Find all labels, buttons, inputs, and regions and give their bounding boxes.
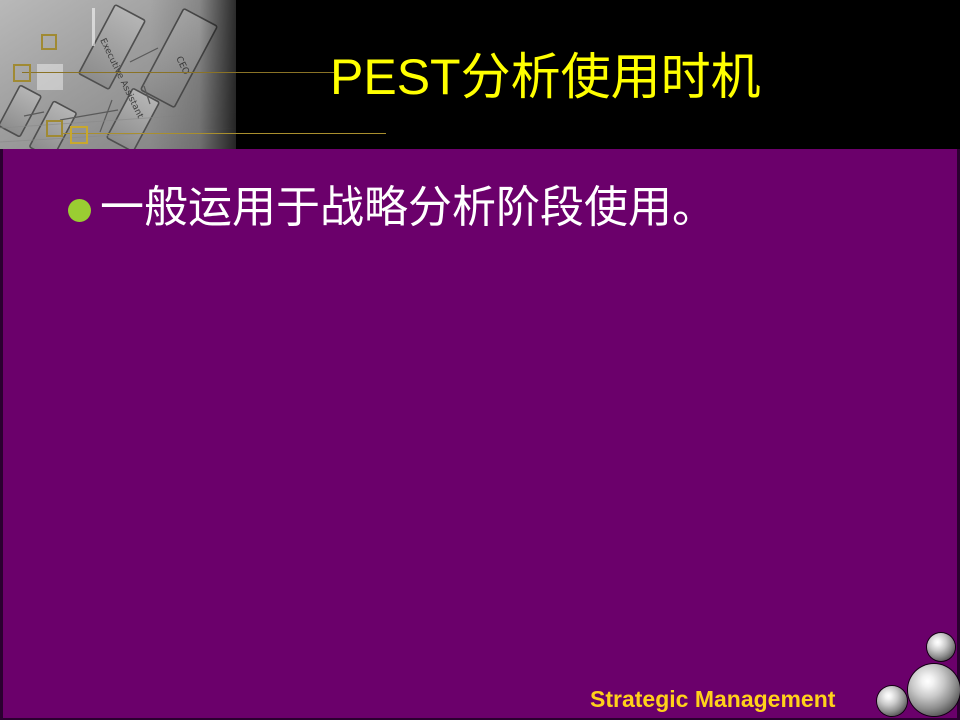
slide-title: PEST分析使用时机 bbox=[330, 48, 930, 106]
decor-pale-square bbox=[37, 64, 63, 90]
bullet-list-item: 一般运用于战略分析阶段使用。 bbox=[68, 182, 716, 234]
decor-sphere-small-top bbox=[927, 633, 955, 661]
slide-content-area bbox=[0, 149, 960, 720]
presentation-slide: Executive Assistant CEO PEST分析使用时机 bbox=[0, 0, 960, 720]
org-chart-photo-graphic: Executive Assistant CEO bbox=[0, 0, 236, 149]
decor-gold-square-4 bbox=[70, 126, 88, 144]
decor-vertical-tick bbox=[92, 8, 95, 46]
decor-gold-square-1 bbox=[41, 34, 57, 50]
decor-sphere-small-left bbox=[877, 686, 907, 716]
decor-sphere-large bbox=[908, 664, 960, 716]
org-chart-photo: Executive Assistant CEO bbox=[0, 0, 236, 149]
bullet-dot-icon bbox=[68, 199, 91, 222]
decor-gold-rule-upper bbox=[22, 72, 334, 73]
bullet-text: 一般运用于战略分析阶段使用。 bbox=[100, 182, 716, 234]
footer-label: Strategic Management bbox=[590, 686, 835, 712]
decor-gold-square-2 bbox=[13, 64, 31, 82]
slide-header-band: Executive Assistant CEO PEST分析使用时机 bbox=[0, 0, 960, 149]
decor-gold-rule-lower-mid bbox=[232, 133, 386, 134]
decor-gold-square-3 bbox=[46, 120, 63, 137]
